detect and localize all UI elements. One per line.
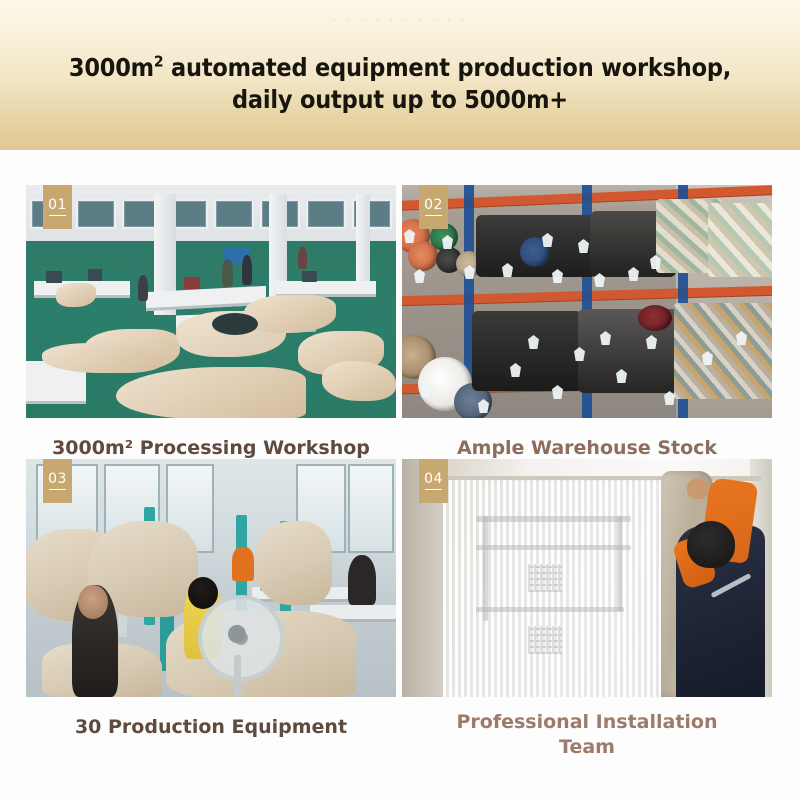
window-frame-bar [617,516,622,611]
worker [348,555,376,605]
badge-01: 01 [43,185,72,229]
fabric-bundle [674,303,772,399]
card-caption-02: Ample Warehouse Stock [402,418,772,459]
card-caption-04-line2: Team [559,736,615,758]
worker [232,547,254,581]
worker [298,247,307,269]
dark-fabric [212,313,258,335]
page-title-line2: daily output up to 5000m+ [0,84,800,116]
card-caption-04-line1: Professional Installation [457,711,718,733]
installation-photo[interactable]: 04 [402,459,772,697]
sewing-machine [46,271,62,283]
installer-head [687,521,735,569]
sheer-curtain [443,480,687,697]
badge-underline [425,215,442,216]
fabric-pile [56,283,96,307]
header-banner: · · · · · · · · · · 3000m2 automated equ… [0,0,800,150]
pillar [356,194,370,292]
workshop-photo[interactable]: 01 [26,185,396,418]
fabric-pile [244,295,336,333]
installer-hand [687,478,709,499]
page-title: 3000m2 automated equipment production wo… [0,52,800,116]
sewing-machine [184,277,200,289]
badge-04: 04 [419,459,448,503]
badge-underline [425,489,442,490]
lattice-motif [528,626,562,654]
banner-clipped-text: · · · · · · · · · · [0,14,800,30]
page-title-line1: 3000m2 automated equipment production wo… [69,53,731,82]
promo-page: · · · · · · · · · · 3000m2 automated equ… [0,0,800,800]
fabric-drape [254,521,332,605]
feature-card-02[interactable]: 02 Ample Warehouse Stock [402,185,772,459]
fabric-roll [116,367,306,418]
worker [242,255,252,285]
warehouse-photo[interactable]: 02 [402,185,772,418]
badge-number: 01 [48,198,67,212]
worker-head [78,585,108,619]
window-frame-bar [483,516,488,621]
worker [138,275,148,301]
feature-grid: 01 3000m² Processing Workshop [26,185,772,760]
badge-02: 02 [419,185,448,229]
card-caption-03: 30 Production Equipment [26,697,396,738]
superscript-two: 2 [154,53,164,71]
card-caption-01: 3000m² Processing Workshop [26,418,396,459]
feature-card-03[interactable]: 03 30 Production Equipment [26,459,396,760]
lattice-motif [528,564,562,592]
fabric-roll [472,311,582,391]
production-photo[interactable]: 03 [26,459,396,697]
fabric-pile [322,361,396,401]
feature-card-01[interactable]: 01 3000m² Processing Workshop [26,185,396,459]
sewing-machine [302,271,317,282]
feature-card-04[interactable]: 04 Professional Installation Team [402,459,772,760]
worker [222,259,233,287]
window-frame-bar [476,516,631,522]
window [348,464,394,554]
window-frame-bar [476,607,624,612]
fabric-roll [638,305,672,331]
sewing-machine [88,269,102,281]
badge-03: 03 [43,459,72,503]
badge-underline [49,215,66,216]
window-row [26,199,396,229]
fan-stand [234,655,241,697]
badge-underline [49,489,66,490]
badge-number: 04 [424,472,443,486]
fabric-bundle [708,203,772,277]
fan-hub [228,625,246,643]
window-frame-bar [476,545,631,550]
badge-number: 03 [48,472,67,486]
hang-tag [414,269,425,283]
card-caption-04: Professional Installation Team [402,697,772,760]
badge-number: 02 [424,198,443,212]
